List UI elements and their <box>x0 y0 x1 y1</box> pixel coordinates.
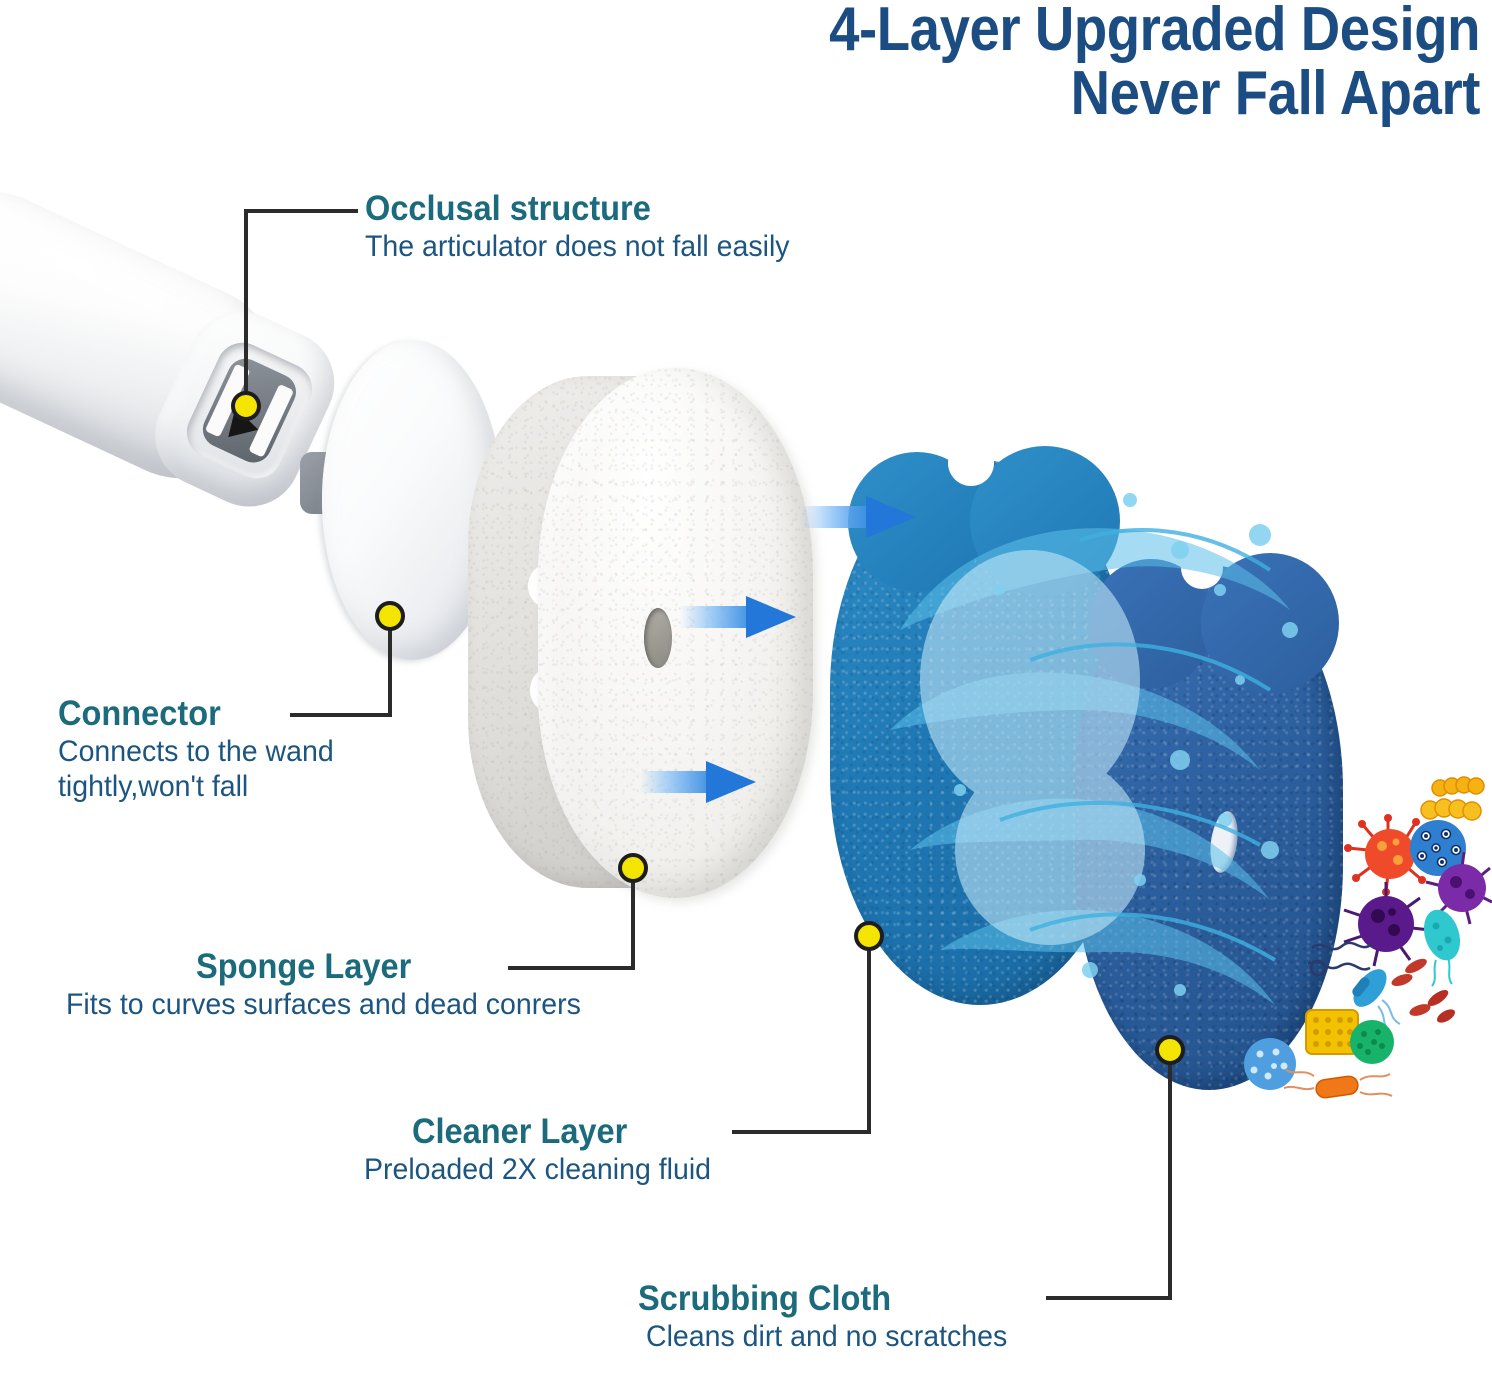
arrow-head <box>706 761 756 803</box>
flow-arrow-1 <box>800 500 916 534</box>
callout-subtitle-occlusal-structure: The articulator does not fall easily <box>365 230 790 265</box>
callout-title-sponge-layer: Sponge Layer <box>196 948 579 985</box>
leader-seg-horizontal <box>732 1130 871 1134</box>
product-infographic: 4-Layer Upgraded Design Never Fall Apart <box>0 0 1492 1376</box>
callout-title-connector: Connector <box>58 695 430 732</box>
marker-dot-cleaner-layer[interactable] <box>854 921 884 951</box>
marker-dot-connector[interactable] <box>375 601 405 631</box>
germ-teal-rod <box>1418 905 1466 986</box>
cleaner-notch <box>948 440 994 486</box>
callout-scrubbing-cloth: Scrubbing Cloth Cleans dirt and no scrat… <box>638 1280 1026 1355</box>
arrow-head <box>866 496 916 538</box>
germ-purple-virus-2 <box>1344 882 1430 966</box>
arrow-head <box>746 596 796 638</box>
sponge-block <box>468 368 828 908</box>
germ-green-sphere <box>1350 1020 1394 1064</box>
callout-title-scrubbing-cloth: Scrubbing Cloth <box>638 1280 999 1317</box>
germ-spiral <box>1308 943 1372 975</box>
germ-yellow-block <box>1306 1010 1358 1054</box>
marker-dot-scrubbing-cloth[interactable] <box>1155 1035 1185 1065</box>
callout-sponge-layer: Sponge Layer Fits to curves surfaces and… <box>196 948 608 1023</box>
sponge-center-hole <box>644 608 672 668</box>
germ-cluster <box>1230 770 1492 1110</box>
leader-seg-horizontal <box>1046 1296 1172 1300</box>
germ-orange-rod <box>1284 1070 1392 1099</box>
germ-blue-sphere <box>1244 1038 1296 1090</box>
leader-seg-horizontal <box>244 209 358 213</box>
callout-subtitle-cleaner-layer: Preloaded 2X cleaning fluid <box>364 1153 711 1188</box>
flow-arrow-2 <box>680 600 796 634</box>
callout-title-cleaner-layer: Cleaner Layer <box>412 1113 707 1150</box>
callout-occlusal-structure: Occlusal structure The articulator does … <box>365 190 812 265</box>
marker-dot-sponge-layer[interactable] <box>618 853 648 883</box>
page-title: 4-Layer Upgraded Design Never Fall Apart <box>178 0 1480 126</box>
germ-red-bacilli <box>1390 956 1457 1025</box>
callout-subtitle-scrubbing-cloth: Cleans dirt and no scratches <box>646 1320 1007 1355</box>
callout-subtitle-connector: Connects to the wand tightly,won't fall <box>58 735 438 804</box>
cloth-notch <box>1181 547 1223 589</box>
germ-yellow-chain-1 <box>1432 777 1484 796</box>
title-line-2: Never Fall Apart <box>178 62 1480 126</box>
germ-yellow-chain-2 <box>1421 799 1481 820</box>
leader-seg-vertical <box>244 209 248 399</box>
flow-arrow-3 <box>640 765 756 799</box>
title-line-1: 4-Layer Upgraded Design <box>178 0 1480 62</box>
callout-title-occlusal-structure: Occlusal structure <box>365 190 781 227</box>
callout-cleaner-layer: Cleaner Layer Preloaded 2X cleaning flui… <box>412 1113 729 1188</box>
leader-seg-vertical <box>1168 1046 1172 1300</box>
leader-seg-vertical <box>867 932 871 1134</box>
callout-connector: Connector Connects to the wand tightly,w… <box>58 695 458 804</box>
callout-subtitle-sponge-layer: Fits to curves surfaces and dead conrers <box>66 988 581 1023</box>
marker-dot-occlusal-structure[interactable] <box>231 391 261 421</box>
